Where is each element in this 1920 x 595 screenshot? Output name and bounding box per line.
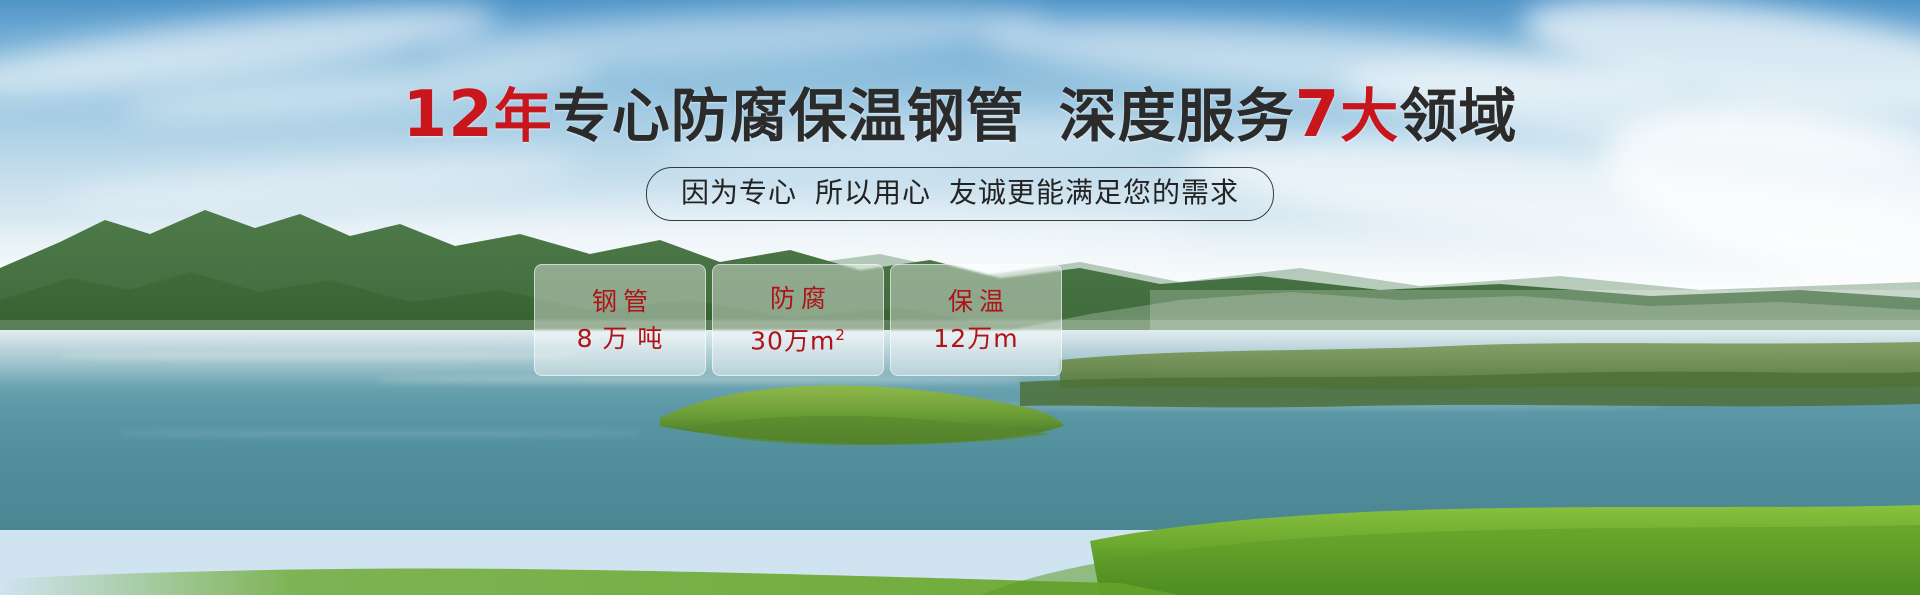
subtitle-part-3: 友诚更能满足您的需求 [949, 176, 1239, 209]
stat-card-anticorrosion[interactable]: 防腐 30万m2 [712, 264, 884, 376]
headline-fields-text: 领域 [1399, 82, 1517, 150]
stat-card-value: 12万m [933, 325, 1018, 352]
stat-card-label: 防腐 [764, 285, 832, 312]
headline-years-unit: 年 [494, 82, 553, 150]
foreground-grass [0, 475, 1920, 595]
headline-fields-unit: 大 [1340, 82, 1399, 150]
headline-years-number: 12 [403, 78, 494, 152]
stat-card-steel-pipe[interactable]: 钢管 8 万 吨 [534, 264, 706, 376]
subtitle-part-1: 因为专心 [681, 176, 797, 209]
water-ripple [120, 430, 640, 437]
water-ripple [60, 352, 580, 360]
stat-card-value-text: 30万m [750, 327, 835, 356]
headline-service-text: 深度服务 [1059, 82, 1295, 150]
stat-card-value: 8 万 吨 [577, 325, 664, 352]
stat-card-insulation[interactable]: 保温 12万m [890, 264, 1062, 376]
headline-main-text: 专心防腐保温钢管 [553, 82, 1025, 150]
promo-banner: 12年专心防腐保温钢管深度服务7大领域 因为专心所以用心友诚更能满足您的需求 钢… [0, 0, 1920, 595]
stat-card-value-text: 12万m [933, 324, 1018, 353]
marsh-strip [1020, 326, 1920, 416]
stat-card-group: 钢管 8 万 吨 防腐 30万m2 保温 12万m [534, 264, 1062, 376]
grassy-islet [630, 372, 1070, 450]
headline-fields-number: 7 [1295, 78, 1341, 152]
subtitle-part-2: 所以用心 [815, 176, 931, 209]
headline: 12年专心防腐保温钢管深度服务7大领域 [0, 84, 1920, 147]
stat-card-value: 30万m2 [750, 322, 846, 354]
stat-card-label: 钢管 [586, 288, 654, 315]
subtitle-pill: 因为专心所以用心友诚更能满足您的需求 [646, 167, 1274, 221]
stat-card-label: 保温 [942, 288, 1010, 315]
stat-card-value-superscript: 2 [835, 326, 846, 344]
stat-card-value-text: 8 万 吨 [577, 324, 664, 353]
